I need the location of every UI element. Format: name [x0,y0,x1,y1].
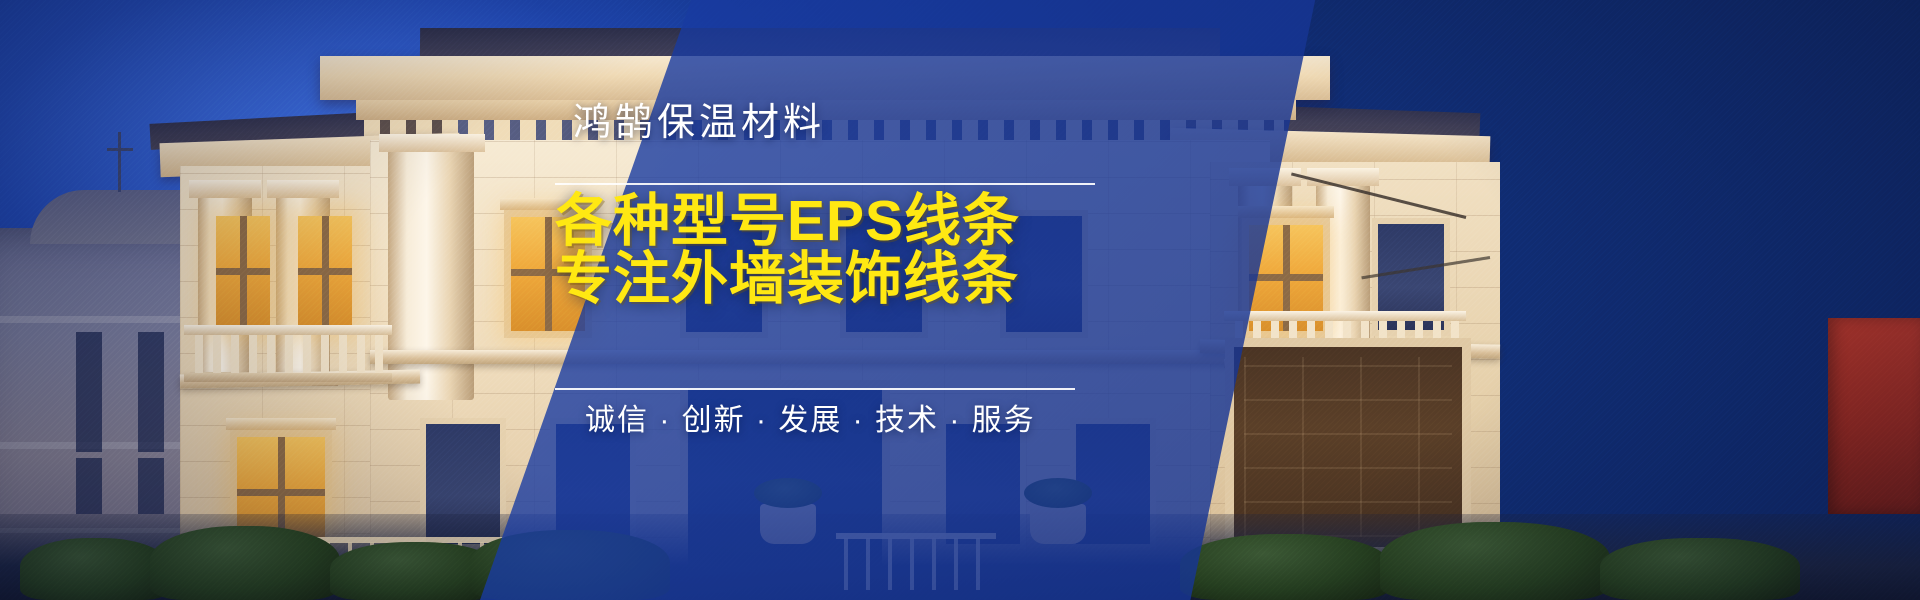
column-capital [379,134,485,152]
red-structure [1828,318,1920,514]
lit-window [298,216,352,328]
shrub [1380,522,1610,600]
balustrade-rail [1224,311,1466,321]
headline-line-1: 各种型号EPS线条 [555,189,1020,253]
shrub [20,538,170,600]
tagline: 诚信 · 创新 · 发展 · 技术 · 服务 [585,406,1036,436]
bg-window [76,332,102,452]
window-hood [226,418,336,430]
window-hood [1238,206,1334,218]
divider-top [555,183,1095,185]
brand-name: 鸿鹄保温材料 [573,104,825,142]
hero-banner: 鸿鹄保温材料 各种型号EPS线条 专注外墙装饰线条 诚信 · 创新 · 发展 ·… [0,0,1920,600]
banner-content: 鸿鹄保温材料 各种型号EPS线条 专注外墙装饰线条 诚信 · 创新 · 发展 ·… [555,0,1115,600]
column-capital [189,180,261,198]
window-mullion [216,268,270,275]
window-mullion [1249,274,1323,281]
shrub [150,526,340,600]
headline-line-2: 专注外墙装饰线条 [555,250,1020,308]
balustrade [190,334,386,374]
window-mullion [237,489,325,496]
column-capital [267,180,339,198]
column-capital [1307,168,1379,186]
balustrade-rail [184,325,392,335]
divider-bottom [555,388,1075,390]
shrub [1180,534,1390,600]
headline: 各种型号EPS线条 专注外墙装饰线条 [555,192,1020,308]
column-capital [1229,168,1301,186]
lit-window [216,216,270,328]
window-mullion [298,268,352,275]
bg-window [76,458,102,514]
shrub [1600,538,1800,600]
balustrade-base [184,373,392,382]
